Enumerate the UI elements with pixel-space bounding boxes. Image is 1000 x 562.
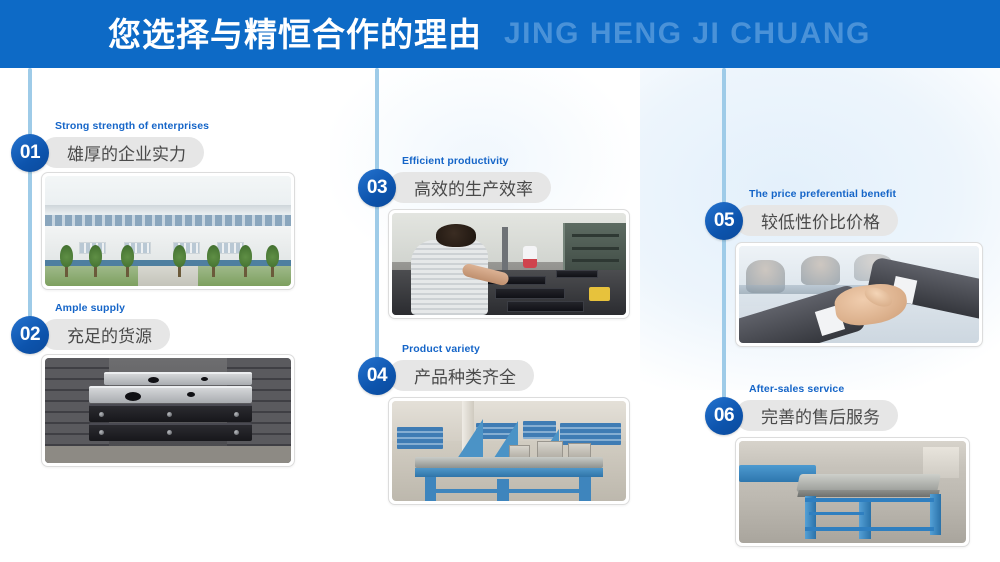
feature-header-06: After-sales service 完善的售后服务 06 bbox=[705, 383, 995, 433]
feature-item-04[interactable]: Product variety 产品种类齐全 04 bbox=[358, 343, 658, 393]
connector-rail-column-2 bbox=[375, 68, 379, 368]
feature-item-01[interactable]: Strong strength of enterprises 雄厚的企业实力 0… bbox=[11, 120, 311, 170]
header-title-chinese: 您选择与精恒合作的理由 bbox=[108, 18, 482, 51]
feature-item-06[interactable]: After-sales service 完善的售后服务 06 bbox=[705, 383, 995, 433]
feature-header-02: Ample supply 充足的货源 02 bbox=[11, 302, 311, 352]
feature-cn-label-02: 充足的货源 bbox=[41, 319, 170, 350]
feature-eng-label-02: Ample supply bbox=[55, 302, 125, 314]
feature-cn-label-01: 雄厚的企业实力 bbox=[41, 137, 204, 168]
feature-number-badge-04: 04 bbox=[358, 357, 396, 395]
feature-eng-label-01: Strong strength of enterprises bbox=[55, 120, 209, 132]
feature-eng-label-03: Efficient productivity bbox=[402, 155, 509, 167]
feature-header-01: Strong strength of enterprises 雄厚的企业实力 0… bbox=[11, 120, 311, 170]
feature-photo-05[interactable] bbox=[735, 242, 983, 347]
feature-cn-label-04: 产品种类齐全 bbox=[388, 360, 534, 391]
feature-eng-label-06: After-sales service bbox=[749, 383, 844, 395]
header-banner: 您选择与精恒合作的理由 JING HENG JI CHUANG bbox=[0, 0, 1000, 68]
feature-header-04: Product variety 产品种类齐全 04 bbox=[358, 343, 658, 393]
feature-number-badge-03: 03 bbox=[358, 169, 396, 207]
feature-cn-label-05: 较低性价比价格 bbox=[735, 205, 898, 236]
connector-rail-column-3 bbox=[722, 68, 726, 416]
feature-photo-03[interactable] bbox=[388, 209, 630, 319]
feature-eng-label-04: Product variety bbox=[402, 343, 480, 355]
feature-number-badge-02: 02 bbox=[11, 316, 49, 354]
feature-photo-01[interactable] bbox=[41, 172, 295, 290]
header-title-pinyin: JING HENG JI CHUANG bbox=[504, 19, 871, 49]
feature-photo-02[interactable] bbox=[41, 354, 295, 467]
infographic-poster: 您选择与精恒合作的理由 JING HENG JI CHUANG Strong s… bbox=[0, 0, 1000, 562]
feature-item-02[interactable]: Ample supply 充足的货源 02 bbox=[11, 302, 311, 352]
feature-photo-06[interactable] bbox=[735, 437, 970, 547]
feature-cn-label-03: 高效的生产效率 bbox=[388, 172, 551, 203]
feature-item-05[interactable]: The price preferential benefit 较低性价比价格 0… bbox=[705, 188, 995, 238]
feature-photo-04[interactable] bbox=[388, 397, 630, 505]
feature-item-03[interactable]: Efficient productivity 高效的生产效率 03 bbox=[358, 155, 658, 205]
feature-number-badge-01: 01 bbox=[11, 134, 49, 172]
feature-header-05: The price preferential benefit 较低性价比价格 0… bbox=[705, 188, 995, 238]
feature-number-badge-06: 06 bbox=[705, 397, 743, 435]
feature-eng-label-05: The price preferential benefit bbox=[749, 188, 896, 200]
feature-cn-label-06: 完善的售后服务 bbox=[735, 400, 898, 431]
feature-header-03: Efficient productivity 高效的生产效率 03 bbox=[358, 155, 658, 205]
feature-number-badge-05: 05 bbox=[705, 202, 743, 240]
connector-rail-column-1 bbox=[28, 68, 32, 330]
